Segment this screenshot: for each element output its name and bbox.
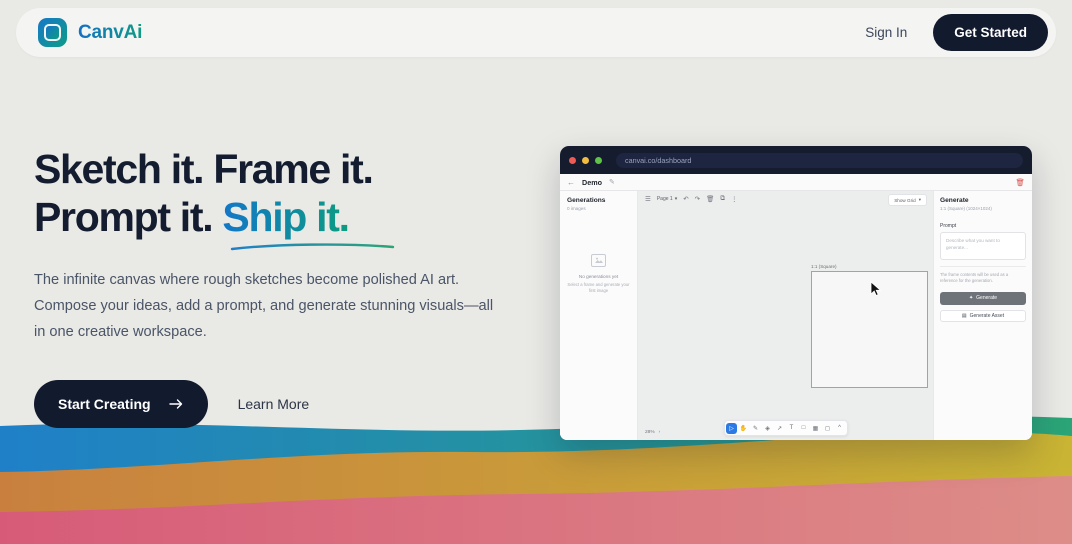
zoom-level: 28% (645, 430, 655, 435)
learn-more-button[interactable]: Learn More (232, 388, 316, 420)
generations-count: 0 images (567, 206, 630, 211)
sparkle-icon: ✦ (969, 295, 973, 301)
accent-underline-icon (230, 242, 395, 252)
page-title: Sketch it. Frame it. Prompt it. Ship it. (34, 145, 534, 241)
generate-helper-text: The frame contents will be used as a ref… (940, 266, 1026, 285)
prompt-input[interactable]: Describe what you want to generate... (940, 232, 1026, 260)
empty-subtitle: Select a frame and generate your first i… (567, 282, 630, 295)
browser-mockup: canvai.co/dashboard ← Demo ✎ 🗑 Generatio… (560, 146, 1032, 440)
show-grid-button[interactable]: Show Grid ▾ (888, 194, 927, 206)
address-bar[interactable]: canvai.co/dashboard (616, 153, 1023, 168)
maximize-dot-icon[interactable] (595, 157, 602, 164)
browser-chrome-bar: canvai.co/dashboard (560, 146, 1032, 174)
page-label: Page 1 (657, 196, 673, 202)
generations-empty-state: No generations yet Select a frame and ge… (560, 216, 637, 295)
image-tool[interactable]: ▦ (810, 423, 821, 434)
layers-icon: ▤ (962, 313, 967, 319)
start-creating-button[interactable]: Start Creating (34, 380, 208, 428)
generate-button[interactable]: ✦ Generate (940, 292, 1026, 305)
headline-line-2-plain: Prompt it. (34, 194, 222, 240)
page-selector[interactable]: Page 1 ▾ (657, 196, 677, 202)
duplicate-icon[interactable]: ⧉ (720, 195, 725, 203)
eraser-tool[interactable]: ◈ (762, 423, 773, 434)
generate-asset-button[interactable]: ▤ Generate Asset (940, 310, 1026, 322)
frame-tool[interactable]: ◻ (822, 423, 833, 434)
empty-title: No generations yet (579, 273, 618, 280)
prompt-label: Prompt (940, 223, 1026, 229)
app-body: Generations 0 images No generations yet … (560, 191, 1032, 440)
chevron-down-icon: ▾ (675, 196, 678, 202)
frame-label: 1:1 (Square) (811, 264, 837, 269)
hand-tool[interactable]: ✋ (738, 423, 749, 434)
landing-page: CanvAi Sign In Get Started Sketch it. Fr… (0, 0, 1072, 544)
show-grid-label: Show Grid (894, 198, 915, 203)
image-placeholder-icon (591, 254, 606, 267)
select-tool[interactable]: ▷ (726, 423, 737, 434)
app-header: ← Demo ✎ 🗑 (560, 174, 1032, 191)
chevron-right-icon: › (659, 430, 661, 435)
generate-asset-label: Generate Asset (970, 313, 1004, 319)
sign-in-button[interactable]: Sign In (855, 19, 917, 46)
canvas-toolbar: ☰ Page 1 ▾ ↶ ↷ 🗑 ⧉ ⋮ Show Grid ▾ (638, 191, 933, 206)
generate-title: Generate (940, 197, 1026, 204)
generate-ratio: 1:1 (Square) (1024×1024) (940, 206, 1026, 211)
generations-panel: Generations 0 images No generations yet … (560, 191, 638, 440)
undo-icon[interactable]: ↶ (683, 195, 688, 203)
note-tool[interactable]: □ (798, 423, 809, 434)
pencil-icon[interactable]: ✎ (609, 178, 615, 186)
generations-panel-header: Generations 0 images (560, 191, 637, 216)
menu-icon[interactable]: ☰ (645, 195, 651, 203)
trash-icon[interactable]: 🗑 (1015, 178, 1025, 187)
chevron-down-icon: ▾ (919, 197, 921, 203)
mouse-pointer-icon (870, 281, 882, 297)
hero-cta-row: Start Creating Learn More (34, 380, 534, 428)
start-creating-label: Start Creating (58, 396, 151, 412)
tool-dock: ▷ ✋ ✎ ◈ ↗ T □ ▦ ◻ ^ (724, 420, 848, 436)
arrow-left-icon[interactable]: ← (567, 178, 575, 187)
close-dot-icon[interactable] (569, 157, 576, 164)
app-screenshot: ← Demo ✎ 🗑 Generations 0 images (560, 174, 1032, 440)
text-tool[interactable]: T (786, 423, 797, 434)
hero-section: Sketch it. Frame it. Prompt it. Ship it.… (34, 145, 534, 428)
chevron-up-icon[interactable]: ^ (834, 423, 845, 434)
zoom-control[interactable]: 28% › (645, 430, 660, 435)
generate-button-label: Generate (976, 295, 997, 301)
canvas-area[interactable]: ☰ Page 1 ▾ ↶ ↷ 🗑 ⧉ ⋮ Show Grid ▾ (638, 191, 933, 440)
trash-icon[interactable]: 🗑 (706, 195, 714, 203)
more-vertical-icon[interactable]: ⋮ (731, 195, 738, 203)
nav-actions: Sign In Get Started (855, 14, 1048, 51)
brand-name: CanvAi (78, 22, 142, 44)
address-bar-url: canvai.co/dashboard (625, 156, 691, 165)
generations-title: Generations (567, 197, 630, 204)
arrow-right-icon (169, 398, 184, 410)
top-navbar: CanvAi Sign In Get Started (16, 8, 1056, 57)
get-started-button[interactable]: Get Started (933, 14, 1048, 51)
hero-subtext: The infinite canvas where rough sketches… (34, 267, 504, 345)
brand-logo[interactable]: CanvAi (38, 18, 142, 47)
pen-tool[interactable]: ✎ (750, 423, 761, 434)
headline-accent: Ship it. (222, 194, 348, 240)
arrow-tool[interactable]: ↗ (774, 423, 785, 434)
redo-icon[interactable]: ↷ (695, 195, 700, 203)
generate-panel: Generate 1:1 (Square) (1024×1024) Prompt… (933, 191, 1032, 440)
minimize-dot-icon[interactable] (582, 157, 589, 164)
headline-line-1: Sketch it. Frame it. (34, 146, 373, 192)
rounded-square-logo-icon (38, 18, 67, 47)
project-title: Demo (582, 178, 602, 187)
